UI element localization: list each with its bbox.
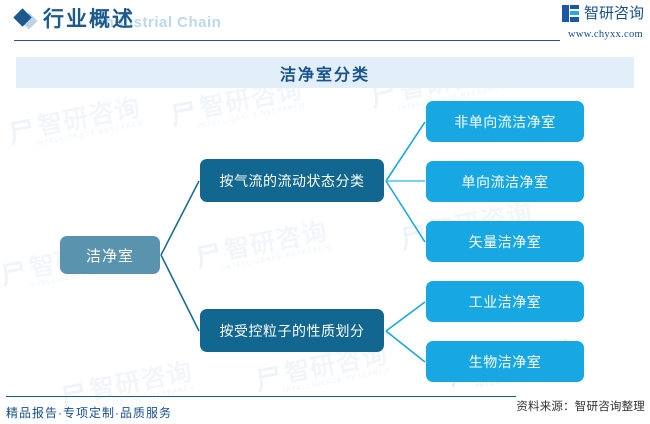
- brand-name: 智研咨询: [584, 5, 644, 22]
- node-root[interactable]: 洁净室: [60, 236, 160, 274]
- brand-logo-group: 智研咨询: [562, 5, 644, 22]
- footer-slogan: 精品报告·专项定制·品质服务: [6, 404, 172, 421]
- node-branch-airflow[interactable]: 按气流的流动状态分类: [200, 159, 384, 202]
- node-leaf-vector[interactable]: 矢量洁净室: [426, 221, 584, 262]
- zhiyan-logo-icon: [562, 5, 579, 22]
- org-chart: 洁净室 按气流的流动状态分类 按受控粒子的性质划分 非单向流洁净室 单向流洁净室…: [0, 0, 650, 424]
- page-title: 行业概述: [43, 6, 135, 34]
- node-leaf-non-unidirectional[interactable]: 非单向流洁净室: [426, 101, 584, 142]
- diamond-icon: [16, 11, 35, 30]
- brand-url: www.chyxx.com: [568, 29, 643, 40]
- footer-source: 资料来源：智研咨询整理: [516, 398, 645, 414]
- node-leaf-industrial[interactable]: 工业洁净室: [426, 281, 584, 322]
- node-leaf-biological[interactable]: 生物洁净室: [426, 341, 584, 382]
- slide-page: 尸 智研咨询 INTELLIGENCE RESEARCH 尸 智研咨询 INTE…: [0, 0, 650, 424]
- header-divider: [14, 40, 560, 41]
- footer-divider: [6, 396, 516, 397]
- node-branch-particle[interactable]: 按受控粒子的性质划分: [200, 309, 384, 352]
- node-leaf-unidirectional[interactable]: 单向流洁净室: [426, 161, 584, 202]
- page-header: Industrial Chain 行业概述 智研咨询 www.chyxx.com: [0, 0, 650, 44]
